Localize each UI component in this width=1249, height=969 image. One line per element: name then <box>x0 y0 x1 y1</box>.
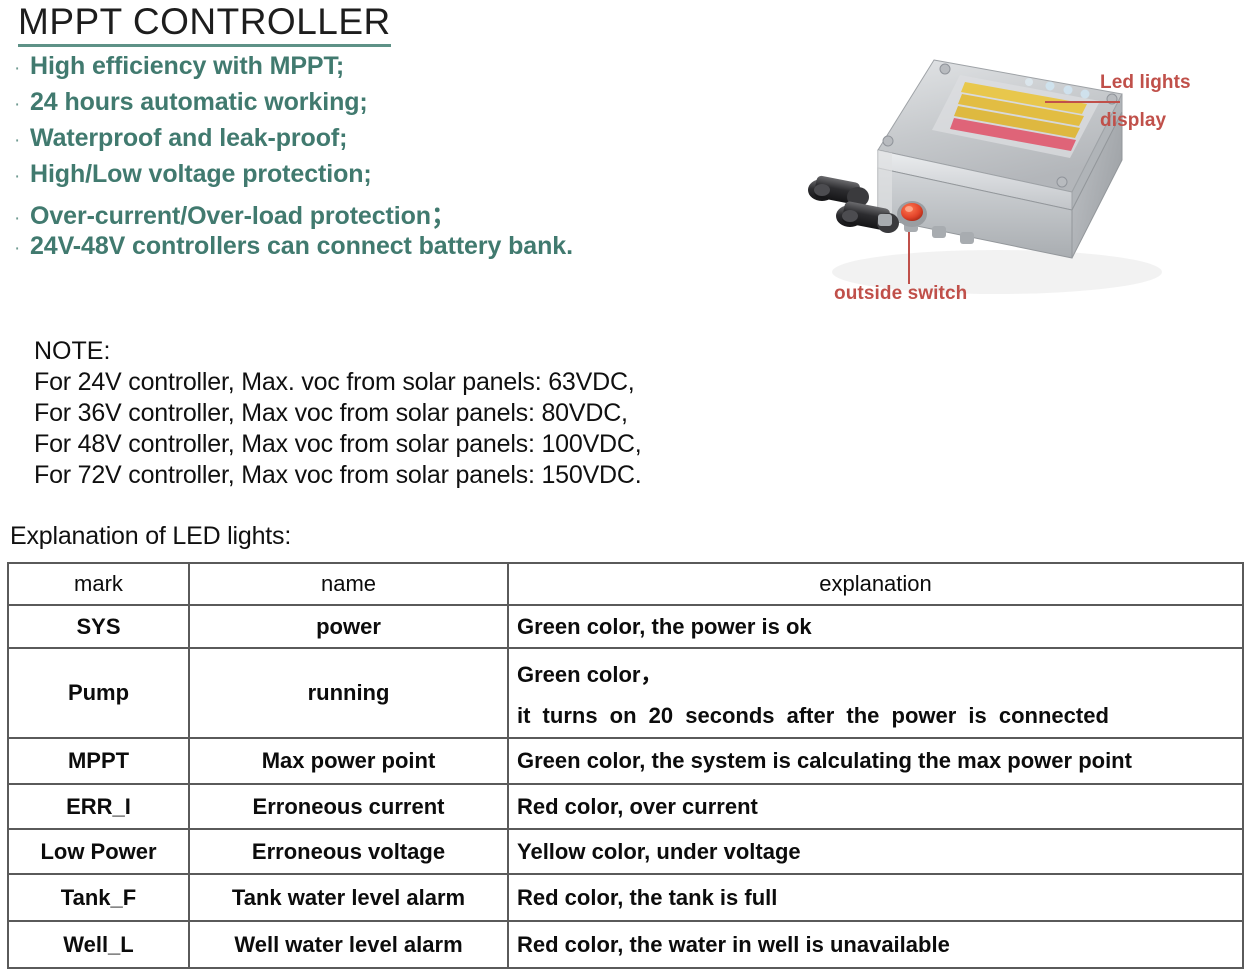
lid-screw <box>940 64 950 74</box>
switch-callout-leader-line <box>908 232 910 284</box>
feature-item: · 24 hours automatic working; <box>14 88 774 124</box>
led-table-caption: Explanation of LED lights: <box>10 522 291 551</box>
feature-item: · High efficiency with MPPT; <box>14 52 774 88</box>
cell-explanation: Green color， it turns on 20 seconds afte… <box>508 648 1243 738</box>
page-title-block: MPPT CONTROLLER <box>18 2 391 47</box>
note-heading: NOTE: <box>34 336 642 367</box>
lid-screw <box>1057 177 1067 187</box>
callout-outside-switch: outside switch <box>834 283 967 305</box>
cell-mark: ERR_I <box>8 784 189 829</box>
cell-name: power <box>189 605 508 648</box>
mounting-lug <box>878 214 892 226</box>
cell-mark: Tank_F <box>8 874 189 921</box>
feature-list: · High efficiency with MPPT; · 24 hours … <box>14 52 774 268</box>
callout-led-lights-line2: display <box>1100 110 1166 132</box>
bullet-dot-icon: · <box>14 131 30 150</box>
cell-explanation: Green color, the power is ok <box>508 605 1243 648</box>
table-row: Tank_F Tank water level alarm Red color,… <box>8 874 1243 921</box>
feature-label: Waterproof and leak-proof; <box>30 124 347 153</box>
cell-explanation-line1: Green color， <box>517 657 1234 689</box>
column-header-mark: mark <box>8 563 189 605</box>
note-line-72v: For 72V controller, Max voc from solar p… <box>34 460 642 491</box>
column-header-name: name <box>189 563 508 605</box>
callout-led-lights-line1: Led lights <box>1100 72 1191 94</box>
cell-name: Erroneous current <box>189 784 508 829</box>
outside-switch-button <box>897 201 927 227</box>
feature-label: High efficiency with MPPT; <box>30 52 344 81</box>
bullet-dot-icon: · <box>14 167 30 186</box>
cell-explanation: Green color, the system is calculating t… <box>508 738 1243 784</box>
cell-mark: Pump <box>8 648 189 738</box>
cell-name: Well water level alarm <box>189 921 508 968</box>
cell-explanation: Yellow color, under voltage <box>508 829 1243 874</box>
feature-label: 24 hours automatic working; <box>30 88 368 117</box>
table-header-row: mark name explanation <box>8 563 1243 605</box>
table-row: ERR_I Erroneous current Red color, over … <box>8 784 1243 829</box>
bullet-dot-icon: · <box>14 209 30 228</box>
feature-item: · Waterproof and leak-proof; <box>14 124 774 160</box>
cell-mark: MPPT <box>8 738 189 784</box>
bullet-dot-icon: · <box>14 59 30 78</box>
led-explanation-table: mark name explanation SYS power Green co… <box>7 562 1244 969</box>
feature-item: · 24V-48V controllers can connect batter… <box>14 232 774 268</box>
lid-screw <box>883 136 893 146</box>
feature-label: Over-current/Over-load protection； <box>30 196 456 232</box>
page-title: MPPT CONTROLLER <box>18 2 391 47</box>
cell-name: Tank water level alarm <box>189 874 508 921</box>
cell-explanation: Red color, over current <box>508 784 1243 829</box>
feature-item: · High/Low voltage protection; <box>14 160 774 196</box>
note-block: NOTE: For 24V controller, Max. voc from … <box>34 336 642 491</box>
cell-name: running <box>189 648 508 738</box>
cable-gland-upper <box>808 175 869 207</box>
cell-name: Erroneous voltage <box>189 829 508 874</box>
led-indicator-dot <box>1046 82 1055 91</box>
led-indicator-dot <box>1025 78 1033 86</box>
cell-explanation-line2: it turns on 20 seconds after the power i… <box>517 703 1234 729</box>
cell-mark: Low Power <box>8 829 189 874</box>
mounting-lug <box>932 226 946 238</box>
cell-explanation: Red color, the tank is full <box>508 874 1243 921</box>
table-row: Low Power Erroneous voltage Yellow color… <box>8 829 1243 874</box>
led-indicator-dot <box>1081 90 1090 99</box>
mounting-lug <box>960 232 974 244</box>
note-line-36v: For 36V controller, Max voc from solar p… <box>34 398 642 429</box>
cell-name: Max power point <box>189 738 508 784</box>
cell-explanation: Red color, the water in well is unavaila… <box>508 921 1243 968</box>
table-row: SYS power Green color, the power is ok <box>8 605 1243 648</box>
bullet-dot-icon: · <box>14 239 30 258</box>
feature-label: 24V-48V controllers can connect battery … <box>30 232 573 261</box>
feature-item: · Over-current/Over-load protection； <box>14 196 774 232</box>
bullet-dot-icon: · <box>14 95 30 114</box>
cell-mark: Well_L <box>8 921 189 968</box>
feature-label: High/Low voltage protection; <box>30 160 372 189</box>
table-row: MPPT Max power point Green color, the sy… <box>8 738 1243 784</box>
led-callout-leader-line <box>1045 101 1120 103</box>
table-row: Pump running Green color， it turns on 20… <box>8 648 1243 738</box>
cell-mark: SYS <box>8 605 189 648</box>
column-header-explanation: explanation <box>508 563 1243 605</box>
table-row: Well_L Well water level alarm Red color,… <box>8 921 1243 968</box>
spec-sheet-page: MPPT CONTROLLER · High efficiency with M… <box>0 0 1249 963</box>
led-indicator-dot <box>1064 86 1073 95</box>
note-line-24v: For 24V controller, Max. voc from solar … <box>34 367 642 398</box>
note-line-48v: For 48V controller, Max voc from solar p… <box>34 429 642 460</box>
